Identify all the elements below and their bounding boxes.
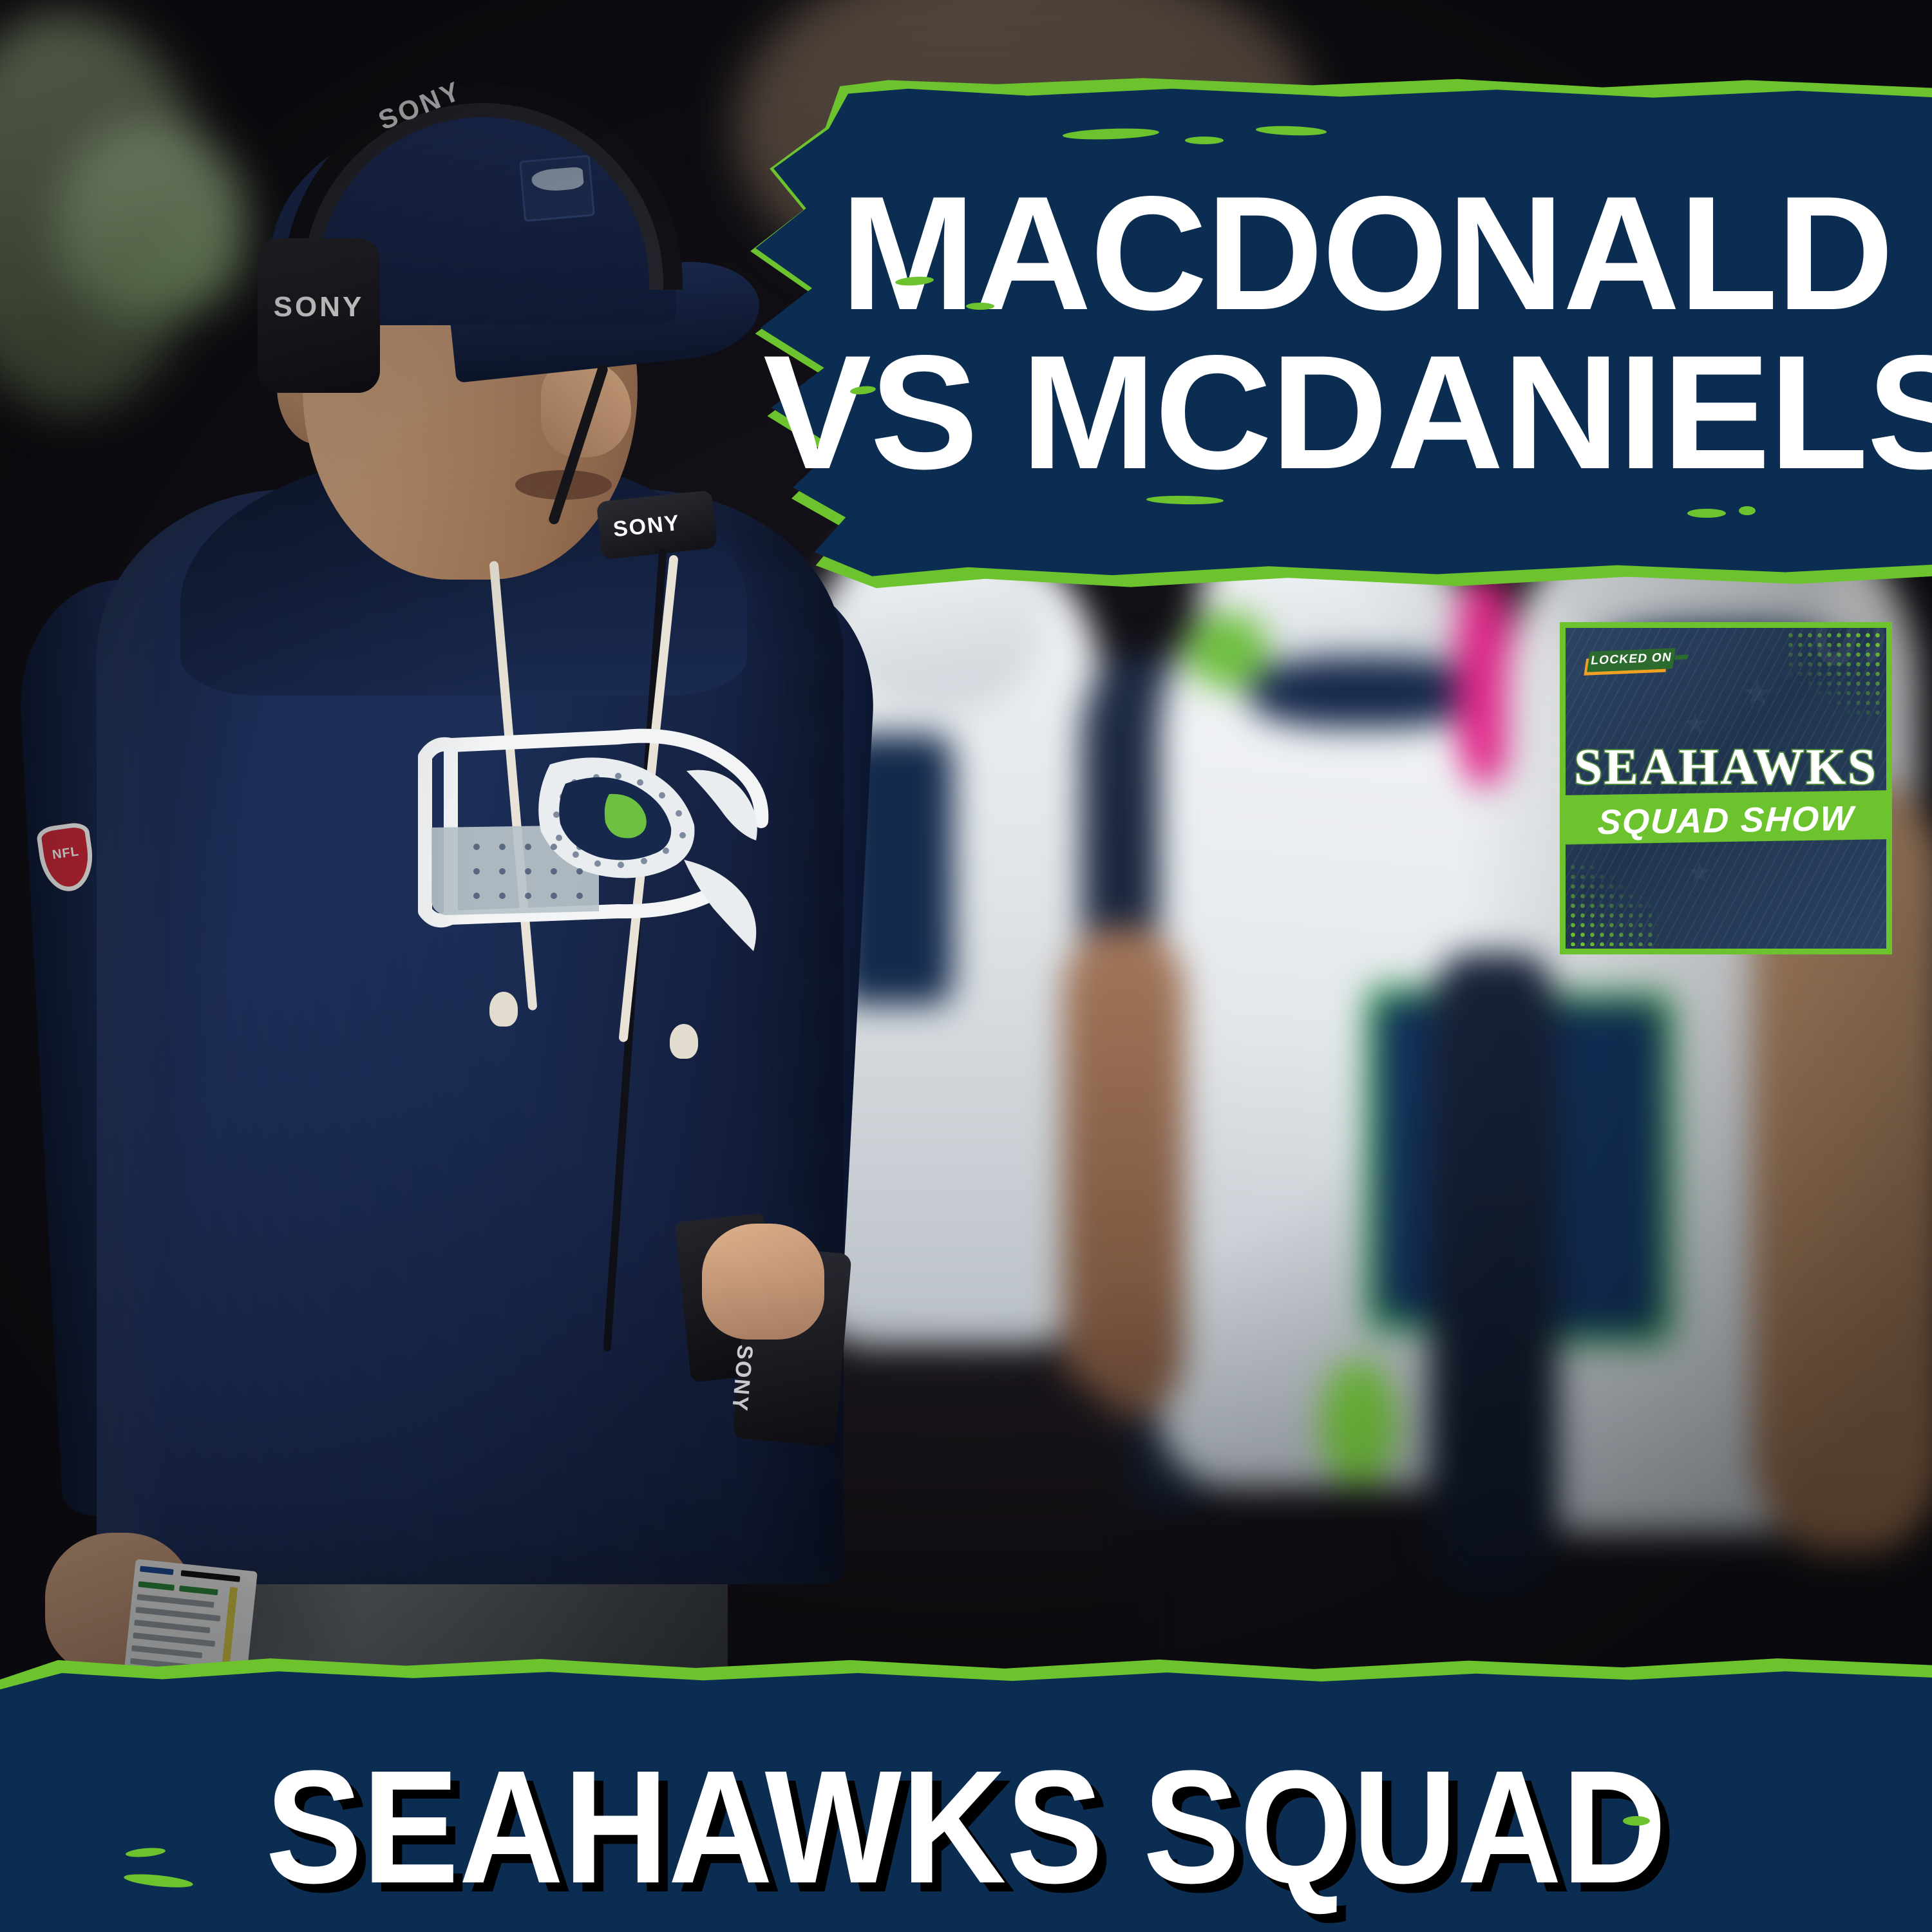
headset-earcup-brand-label: SONY <box>269 291 368 323</box>
locked-on-label: LOCKED ON <box>1587 650 1675 668</box>
helmet-stripe-1 <box>1249 657 1481 728</box>
paint-fleck <box>966 303 994 310</box>
title-line-1: MACDONALD <box>840 175 1932 334</box>
seahawks-logo <box>406 699 779 976</box>
halftone-dots-top-right <box>1786 630 1882 721</box>
star-icon <box>1684 713 1706 735</box>
title-line-2: VS MCDANIELS <box>763 334 1932 493</box>
badge-green-stripe: SQUAD SHOW <box>1566 790 1886 844</box>
coach-right-hand <box>702 1224 824 1340</box>
bottom-banner: SEAHAWKS SQUAD <box>0 1650 1932 1932</box>
star-icon <box>1688 861 1711 884</box>
paint-fleck <box>1185 137 1224 144</box>
show-artwork-badge: SEAHAWKS LOCKED ON SEAHAWKS SQUAD SHOW <box>1560 622 1892 954</box>
badge-panel: SEAHAWKS LOCKED ON SEAHAWKS SQUAD SHOW <box>1566 628 1886 949</box>
paint-fleck <box>1623 1816 1650 1826</box>
episode-cover-artwork: SONY SONY SONY <box>0 0 1932 1932</box>
player-navy-pants-2 <box>1430 953 1558 1597</box>
helmet-seahawk-green-1 <box>1185 612 1269 689</box>
drawstring-knot-left <box>489 992 518 1027</box>
paint-fleck <box>1739 506 1756 515</box>
locked-on-ribbon-tail <box>1674 654 1689 659</box>
halftone-dots-bottom-left <box>1568 862 1658 946</box>
pink-breast-cancer-towel <box>1455 573 1513 786</box>
bottom-banner-title: SEAHAWKS SQUAD <box>97 1747 1835 1908</box>
paint-fleck <box>1687 509 1726 518</box>
player-green-glove <box>1320 1359 1397 1488</box>
badge-show-name: SQUAD SHOW <box>1566 798 1886 843</box>
star-icon <box>1743 679 1772 708</box>
badge-team-name: SEAHAWKS <box>1566 739 1886 797</box>
locked-on-network-ribbon: LOCKED ON <box>1587 648 1676 672</box>
drawstring-knot-right <box>670 1024 698 1059</box>
player-arm-1 <box>1063 927 1185 1417</box>
